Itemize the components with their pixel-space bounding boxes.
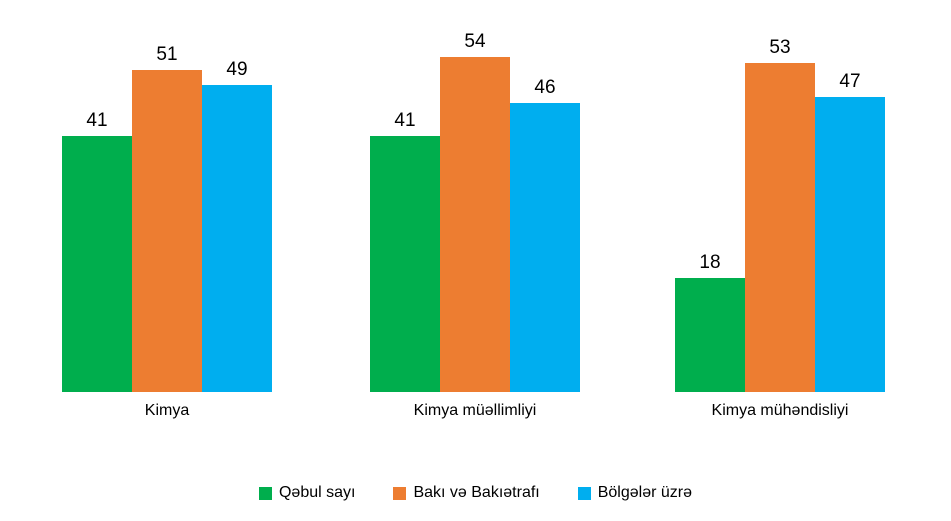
bar-slot: 53 bbox=[745, 0, 815, 392]
bar-value-label: 53 bbox=[745, 38, 815, 57]
bar-slot: 49 bbox=[202, 0, 272, 392]
bar-value-label: 18 bbox=[675, 253, 745, 272]
bar-slot: 18 bbox=[675, 0, 745, 392]
bar-chart: 41 51 49 41 54 46 bbox=[0, 0, 951, 521]
bar-bolgeler-uzre[interactable] bbox=[510, 103, 580, 392]
bar-baki-ve-bakietrafi[interactable] bbox=[440, 57, 510, 392]
bar-slot: 47 bbox=[815, 0, 885, 392]
bar-bolgeler-uzre[interactable] bbox=[202, 85, 272, 392]
chart-legend: Qəbul sayı Bakı və Bakıətrafı Bölgələr ü… bbox=[0, 478, 951, 508]
bar-value-label: 47 bbox=[815, 72, 885, 91]
bar-value-label: 41 bbox=[62, 111, 132, 130]
bar-value-label: 54 bbox=[440, 32, 510, 51]
bar-qebul-sayi[interactable] bbox=[370, 136, 440, 392]
bar-value-label: 51 bbox=[132, 45, 202, 64]
bar-qebul-sayi[interactable] bbox=[62, 136, 132, 392]
category-label-kimya: Kimya bbox=[62, 402, 272, 420]
bar-value-label: 46 bbox=[510, 78, 580, 97]
bar-group: 41 51 49 bbox=[62, 0, 272, 392]
bar-group: 18 53 47 bbox=[675, 0, 885, 392]
bar-slot: 51 bbox=[132, 0, 202, 392]
bar-bolgeler-uzre[interactable] bbox=[815, 97, 885, 392]
bar-baki-ve-bakietrafi[interactable] bbox=[745, 63, 815, 392]
bar-qebul-sayi[interactable] bbox=[675, 278, 745, 392]
legend-label: Bölgələr üzrə bbox=[598, 485, 692, 501]
category-axis: Kimya Kimya müəllimliyi Kimya mühəndisli… bbox=[0, 398, 951, 430]
category-label-kimya-muhendisliyi: Kimya mühəndisliyi bbox=[675, 402, 885, 420]
legend-swatch-icon bbox=[259, 487, 272, 500]
legend-item-qebul-sayi[interactable]: Qəbul sayı bbox=[259, 485, 355, 501]
bar-slot: 46 bbox=[510, 0, 580, 392]
legend-item-bolgeler-uzre[interactable]: Bölgələr üzrə bbox=[578, 485, 692, 501]
bar-group: 41 54 46 bbox=[370, 0, 580, 392]
bar-value-label: 49 bbox=[202, 60, 272, 79]
bar-value-label: 41 bbox=[370, 111, 440, 130]
category-label-kimya-muellimliyi: Kimya müəllimliyi bbox=[370, 402, 580, 420]
bar-slot: 41 bbox=[62, 0, 132, 392]
legend-swatch-icon bbox=[578, 487, 591, 500]
bar-baki-ve-bakietrafi[interactable] bbox=[132, 70, 202, 392]
legend-label: Qəbul sayı bbox=[279, 485, 355, 501]
legend-label: Bakı və Bakıətrafı bbox=[413, 485, 539, 501]
bar-slot: 54 bbox=[440, 0, 510, 392]
legend-swatch-icon bbox=[393, 487, 406, 500]
legend-item-baki-ve-bakietrafi[interactable]: Bakı və Bakıətrafı bbox=[393, 485, 539, 501]
bar-slot: 41 bbox=[370, 0, 440, 392]
plot-area: 41 51 49 41 54 46 bbox=[0, 0, 951, 392]
